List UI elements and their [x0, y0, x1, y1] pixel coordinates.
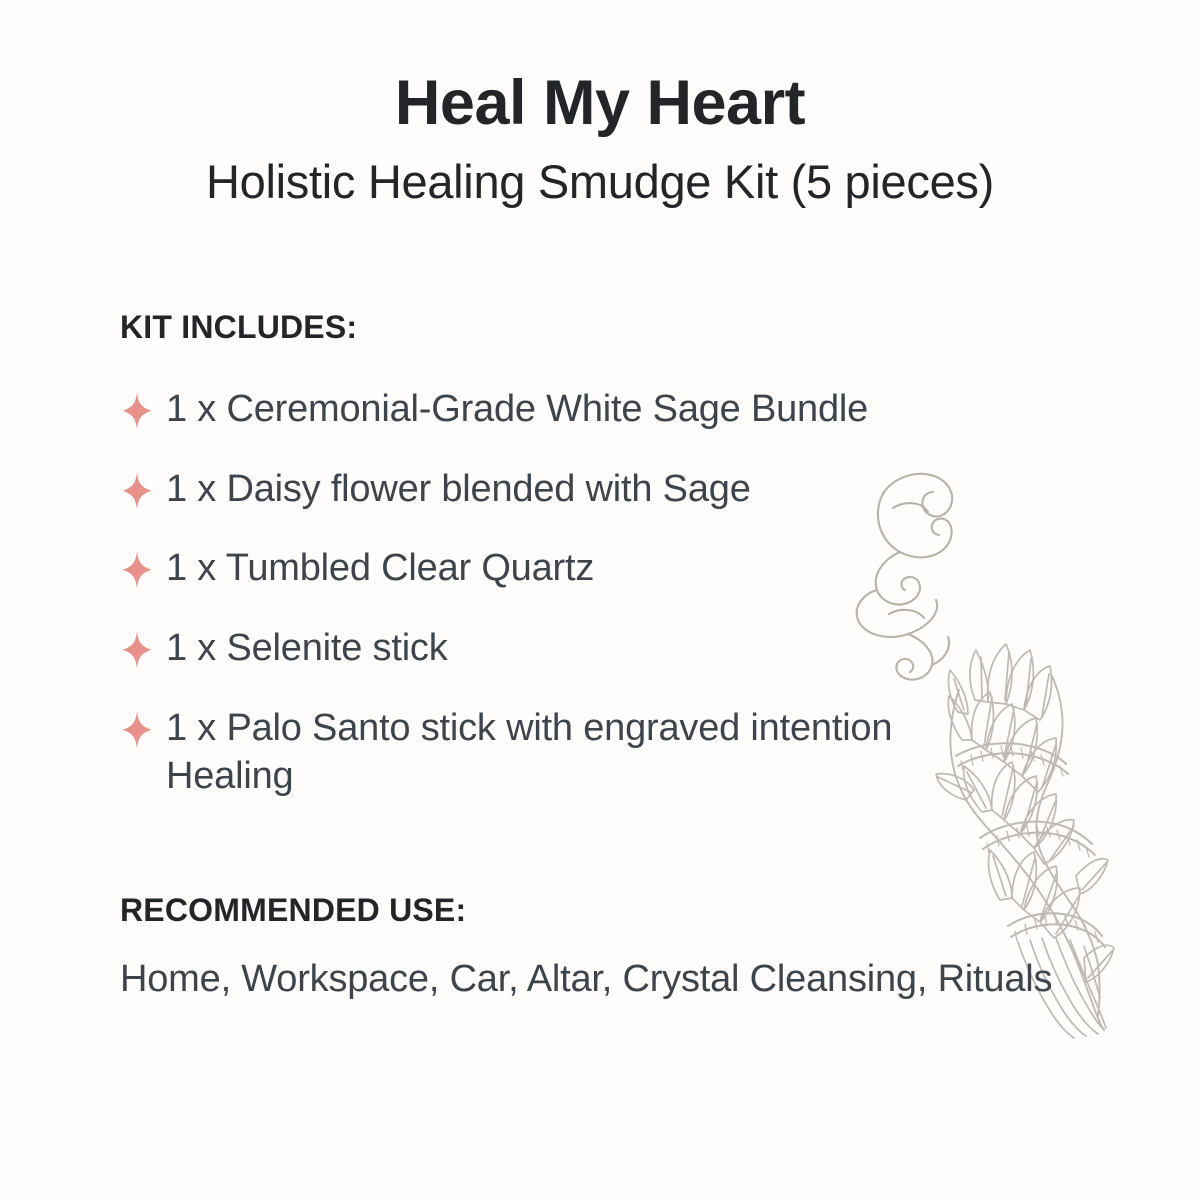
list-item-label: 1 x Tumbled Clear Quartz	[166, 544, 594, 593]
list-item: 1 x Selenite stick	[120, 624, 1120, 673]
product-info-card: Heal My Heart Holistic Healing Smudge Ki…	[0, 0, 1200, 1200]
recommended-use-text: Home, Workspace, Car, Altar, Crystal Cle…	[120, 954, 1110, 1004]
product-title: Heal My Heart	[0, 0, 1200, 135]
product-subtitle: Holistic Healing Smudge Kit (5 pieces)	[0, 135, 1200, 206]
list-item-label: 1 x Selenite stick	[166, 624, 448, 673]
kit-includes-section: KIT INCLUDES: 1 x Ceremonial-Grade White…	[120, 310, 1120, 801]
card-body: KIT INCLUDES: 1 x Ceremonial-Grade White…	[120, 310, 1120, 1004]
recommended-use-heading: RECOMMENDED USE:	[120, 893, 1120, 928]
recommended-use-section: RECOMMENDED USE: Home, Workspace, Car, A…	[120, 893, 1120, 1004]
sparkle-icon	[120, 628, 154, 672]
card-header: Heal My Heart Holistic Healing Smudge Ki…	[0, 0, 1200, 206]
sparkle-icon	[120, 469, 154, 513]
sparkle-icon	[120, 548, 154, 592]
list-item: 1 x Palo Santo stick with engraved inten…	[120, 704, 1120, 801]
list-item-label: 1 x Daisy flower blended with Sage	[166, 465, 751, 514]
kit-includes-heading: KIT INCLUDES:	[120, 310, 1120, 345]
sparkle-icon	[120, 708, 154, 752]
list-item: 1 x Ceremonial-Grade White Sage Bundle	[120, 385, 1120, 434]
kit-includes-list: 1 x Ceremonial-Grade White Sage Bundle 1…	[120, 385, 1120, 801]
list-item-label: 1 x Palo Santo stick with engraved inten…	[166, 704, 956, 801]
list-item: 1 x Tumbled Clear Quartz	[120, 544, 1120, 593]
list-item: 1 x Daisy flower blended with Sage	[120, 465, 1120, 514]
sparkle-icon	[120, 389, 154, 433]
list-item-label: 1 x Ceremonial-Grade White Sage Bundle	[166, 385, 868, 434]
